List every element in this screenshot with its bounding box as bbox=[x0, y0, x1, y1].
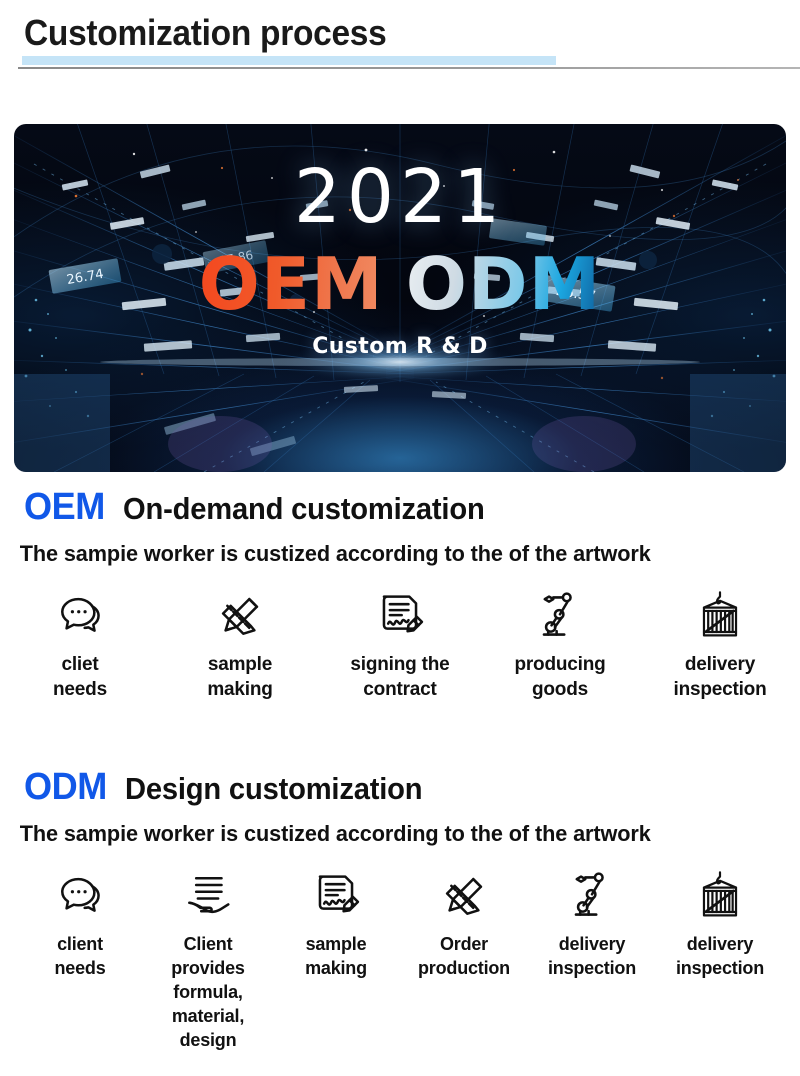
step-label: delivery inspection bbox=[548, 932, 636, 980]
section-oem-heading: On-demand customization bbox=[123, 491, 485, 527]
hero-odm-word: ODM bbox=[406, 248, 602, 320]
step-order-production[interactable]: Order production bbox=[405, 869, 523, 980]
section-oem-description: The sampie worker is custized according … bbox=[0, 541, 788, 567]
chat-bubbles-icon bbox=[53, 869, 107, 923]
section-odm: ODM Design customization The sampie work… bbox=[0, 766, 800, 1053]
section-odm-tag: ODM bbox=[24, 766, 107, 809]
chat-bubbles-icon bbox=[53, 589, 107, 643]
section-odm-heading: Design customization bbox=[125, 771, 422, 807]
title-divider-rule bbox=[18, 67, 800, 69]
step-label: sample making bbox=[207, 652, 272, 703]
pencil-ruler-icon bbox=[437, 869, 491, 923]
title-accent-bar bbox=[22, 56, 556, 65]
step-label: signing the contract bbox=[350, 652, 449, 703]
section-oem-tag: OEM bbox=[24, 486, 105, 529]
step-delivery-inspection[interactable]: delivery inspection bbox=[660, 589, 780, 703]
robot-arm-icon bbox=[565, 869, 619, 923]
section-odm-description: The sampie worker is custized according … bbox=[0, 821, 788, 847]
step-client-needs[interactable]: cliet needs bbox=[20, 589, 140, 703]
step-signing-contract[interactable]: signing the contract bbox=[340, 589, 460, 703]
step-label: delivery inspection bbox=[673, 652, 766, 703]
section-odm-header: ODM Design customization bbox=[0, 766, 800, 809]
odm-step-list: client needs Client provides formula, bbox=[0, 869, 800, 1053]
signed-document-icon bbox=[309, 869, 363, 923]
step-label: Client provides formula, material, desig… bbox=[149, 932, 267, 1053]
hero-oem-word: OEM bbox=[199, 248, 384, 320]
section-oem-header: OEM On-demand customization bbox=[0, 486, 800, 529]
step-delivery-inspection-crate[interactable]: delivery inspection bbox=[661, 869, 779, 980]
step-label: cliet needs bbox=[53, 652, 107, 703]
robot-arm-icon bbox=[533, 589, 587, 643]
step-client-needs[interactable]: client needs bbox=[21, 869, 139, 980]
hero-year: 2021 bbox=[294, 162, 506, 232]
hero-tagline: Custom R & D bbox=[312, 334, 488, 359]
step-sample-making[interactable]: sample making bbox=[180, 589, 300, 703]
crate-hook-icon bbox=[693, 589, 747, 643]
hero-brand-line: OEM ODM bbox=[199, 248, 602, 320]
oem-step-list: cliet needs bbox=[0, 589, 800, 703]
pencil-ruler-icon bbox=[213, 589, 267, 643]
hero-text-overlay: 2021 OEM ODM Custom R & D bbox=[14, 124, 786, 472]
hand-documents-icon bbox=[181, 869, 235, 923]
signed-document-icon bbox=[373, 589, 427, 643]
step-client-provides[interactable]: Client provides formula, material, desig… bbox=[149, 869, 267, 1053]
customization-process-page: Customization process bbox=[0, 0, 800, 1076]
step-label: producing goods bbox=[514, 652, 605, 703]
section-oem: OEM On-demand customization The sampie w… bbox=[0, 486, 800, 703]
page-title: Customization process bbox=[24, 12, 386, 54]
step-label: delivery inspection bbox=[676, 932, 764, 980]
step-sample-making[interactable]: sample making bbox=[277, 869, 395, 980]
hero-banner: 26.74 26.57 27.86 bbox=[14, 124, 786, 472]
crate-hook-icon bbox=[693, 869, 747, 923]
step-label: sample making bbox=[305, 932, 367, 980]
step-producing-goods[interactable]: producing goods bbox=[500, 589, 620, 703]
step-delivery-inspection-robot[interactable]: delivery inspection bbox=[533, 869, 651, 980]
step-label: Order production bbox=[418, 932, 510, 980]
step-label: client needs bbox=[54, 932, 105, 980]
